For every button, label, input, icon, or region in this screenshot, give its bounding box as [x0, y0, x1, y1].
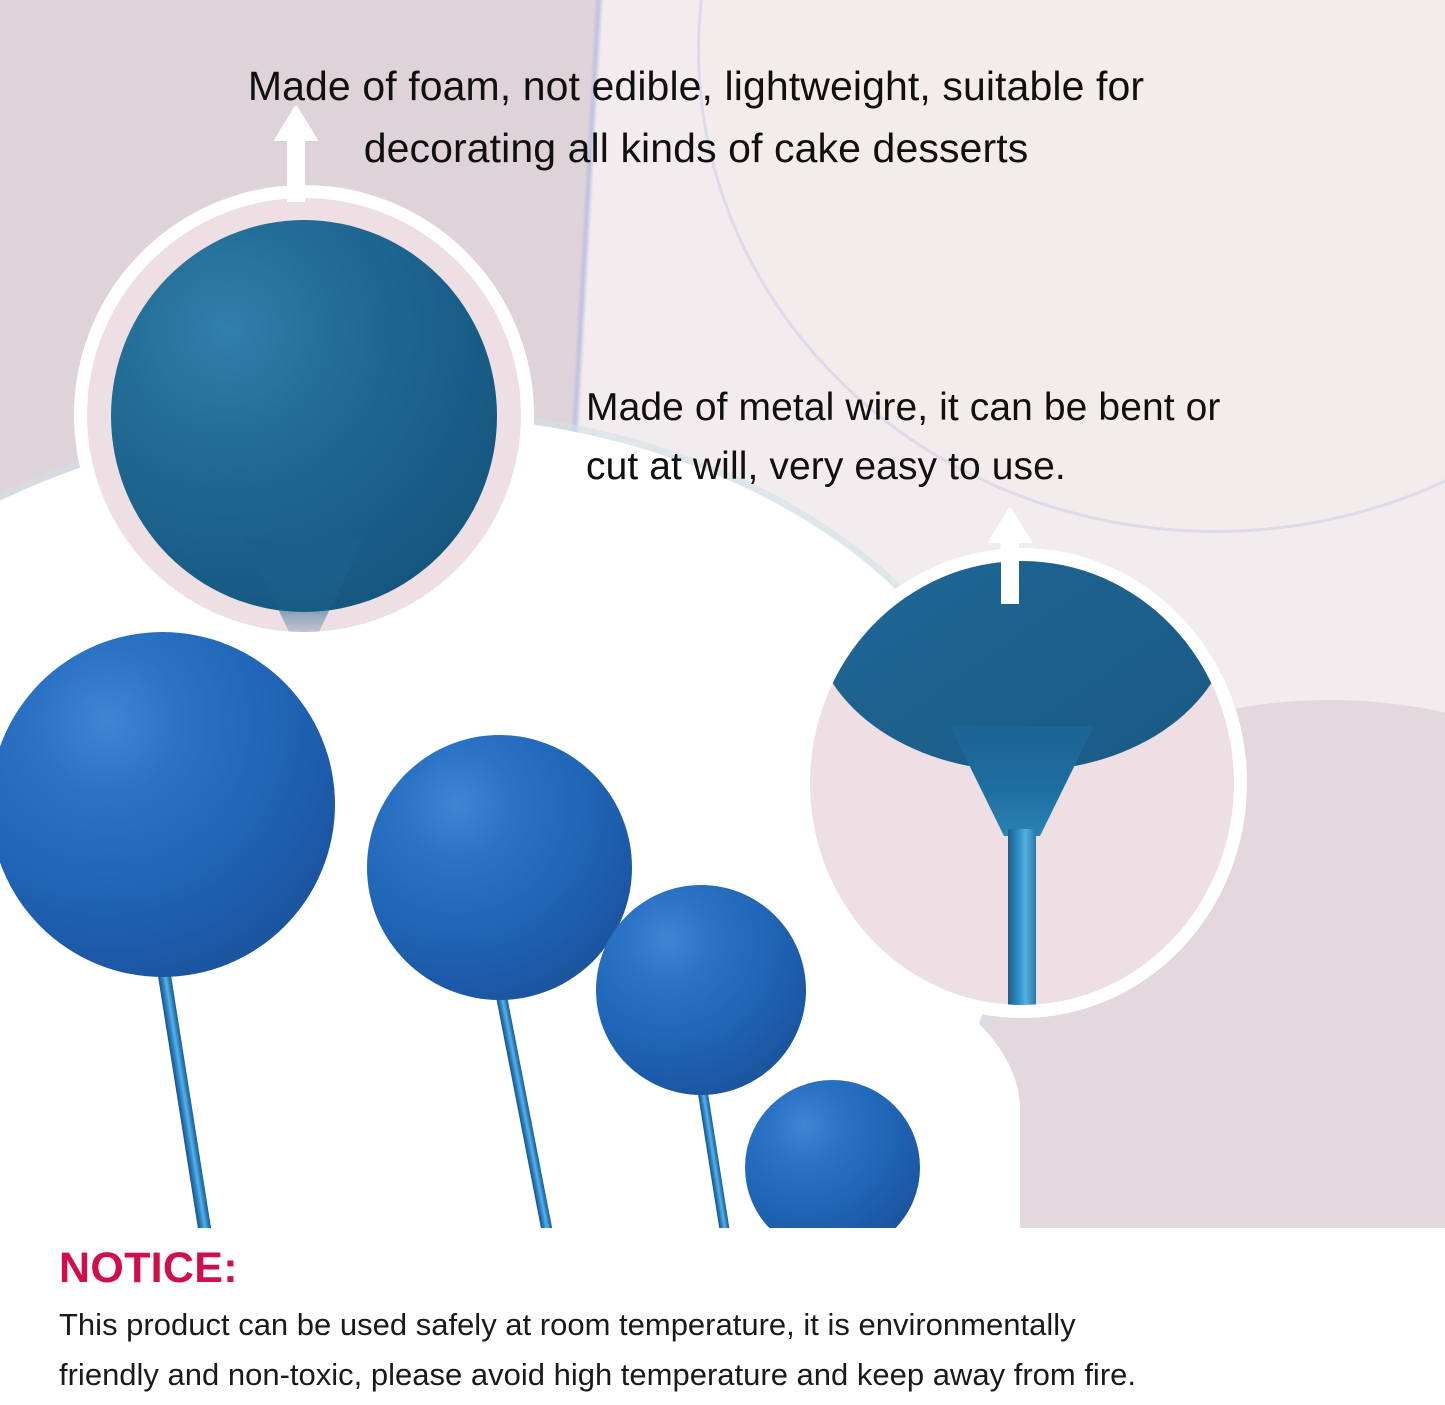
product-infographic: Made of foam, not edible, lightweight, s…: [0, 0, 1445, 1405]
ball-extra-large: [0, 632, 335, 1267]
callout-wire-line2: cut at will, very easy to use.: [586, 437, 1436, 496]
ball-extra-large-wire-stick: [156, 962, 214, 1250]
ball-taper-zoomed: [947, 726, 1097, 836]
magnifier-circle-foam: [74, 185, 534, 645]
notice-title: NOTICE:: [59, 1244, 238, 1293]
ball-large-sphere: [367, 735, 632, 1000]
arrow-up-icon: [987, 508, 1033, 604]
callout-foam-line1: Made of foam, not edible, lightweight, s…: [248, 63, 1144, 109]
callout-foam-line2: decorating all kinds of cake desserts: [96, 117, 1296, 179]
ball-medium-sphere: [596, 885, 806, 1095]
callout-foam-text: Made of foam, not edible, lightweight, s…: [96, 55, 1296, 180]
ball-large-wire-stick: [494, 985, 553, 1233]
notice-body: This product can be used safely at room …: [59, 1300, 1419, 1400]
metal-wire-zoomed: [1008, 829, 1036, 1018]
callout-wire-line1: Made of metal wire, it can be bent or: [586, 386, 1221, 429]
ball-large: [367, 735, 632, 1250]
notice-section: NOTICE: This product can be used safely …: [0, 1228, 1445, 1405]
notice-body-line1: This product can be used safely at room …: [59, 1307, 1076, 1342]
magnifier-circle-wire: [797, 548, 1247, 1018]
notice-body-line2: friendly and non-toxic, please avoid hig…: [59, 1350, 1419, 1400]
ball-extra-large-sphere: [0, 632, 335, 977]
callout-wire-text: Made of metal wire, it can be bent or cu…: [586, 378, 1436, 497]
